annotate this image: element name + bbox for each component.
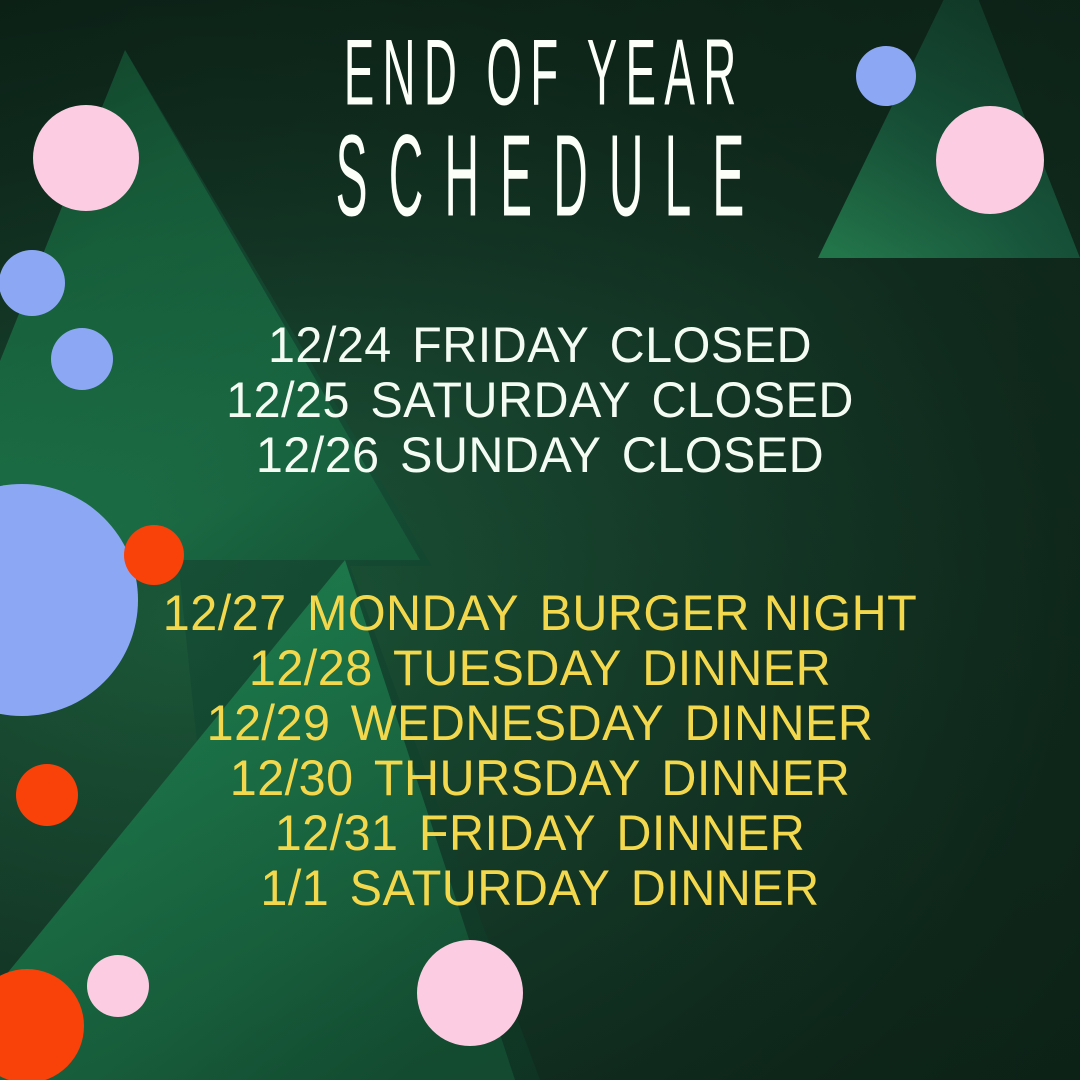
open-date: 12/28 xyxy=(249,640,373,696)
open-row: 12/29WEDNESDAYDINNER xyxy=(16,696,1064,751)
open-date: 12/27 xyxy=(163,585,287,641)
open-day: FRIDAY xyxy=(419,805,596,861)
open-day: TUESDAY xyxy=(393,640,622,696)
open-day: WEDNESDAY xyxy=(351,695,664,751)
open-day: THURSDAY xyxy=(374,750,641,806)
schedule-poster: END OF YEAR SCHEDULE 12/24FRIDAYCLOSED12… xyxy=(0,0,1080,1080)
open-row: 12/28TUESDAYDINNER xyxy=(16,641,1064,696)
open-day: SATURDAY xyxy=(350,860,611,916)
open-status: DINNER xyxy=(616,805,805,861)
open-row: 1/1SATURDAYDINNER xyxy=(16,861,1064,916)
open-row: 12/27MONDAYBURGER NIGHT xyxy=(16,586,1064,641)
title-line-1: END OF YEAR xyxy=(259,26,821,119)
blue-circle-left-upper xyxy=(0,250,65,316)
open-status: DINNER xyxy=(685,695,874,751)
closed-day: SATURDAY xyxy=(370,372,631,428)
open-days-list: 12/27MONDAYBURGER NIGHT12/28TUESDAYDINNE… xyxy=(0,586,1080,916)
closed-days-list: 12/24FRIDAYCLOSED12/25SATURDAYCLOSED12/2… xyxy=(0,318,1080,483)
closed-day: FRIDAY xyxy=(412,317,589,373)
page-title: END OF YEAR SCHEDULE xyxy=(0,26,1080,222)
closed-day: SUNDAY xyxy=(400,427,601,483)
pink-circle-bottom-center xyxy=(417,940,523,1046)
open-row: 12/31FRIDAYDINNER xyxy=(16,806,1064,861)
closed-date: 12/26 xyxy=(256,427,380,483)
open-status: BURGER NIGHT xyxy=(540,585,918,641)
open-date: 12/29 xyxy=(207,695,331,751)
closed-status: CLOSED xyxy=(622,427,824,483)
open-date: 12/30 xyxy=(230,750,354,806)
open-date: 1/1 xyxy=(260,860,329,916)
closed-status: CLOSED xyxy=(651,372,853,428)
open-status: DINNER xyxy=(642,640,831,696)
open-row: 12/30THURSDAYDINNER xyxy=(16,751,1064,806)
closed-row: 12/26SUNDAYCLOSED xyxy=(16,428,1064,483)
closed-row: 12/24FRIDAYCLOSED xyxy=(16,318,1064,373)
open-day: MONDAY xyxy=(307,585,519,641)
open-status: DINNER xyxy=(661,750,850,806)
pink-circle-bottom-left xyxy=(87,955,149,1017)
red-circle-mid-left xyxy=(124,525,184,585)
closed-date: 12/24 xyxy=(268,317,392,373)
open-date: 12/31 xyxy=(275,805,399,861)
closed-status: CLOSED xyxy=(610,317,812,373)
open-status: DINNER xyxy=(631,860,820,916)
title-line-2: SCHEDULE xyxy=(292,118,789,234)
closed-row: 12/25SATURDAYCLOSED xyxy=(16,373,1064,428)
closed-date: 12/25 xyxy=(226,372,350,428)
